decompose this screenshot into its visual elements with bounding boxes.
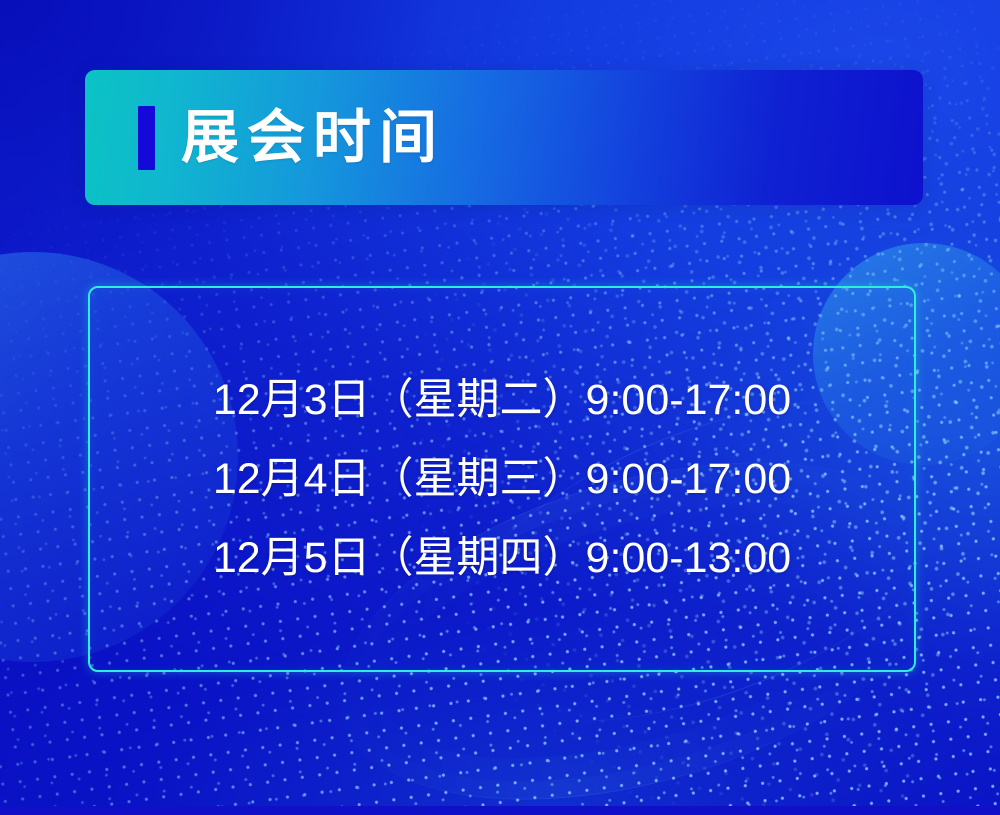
page-title: 展会时间 [181,109,445,167]
section-header-banner: 展会时间 [85,70,923,205]
header-accent-bar-icon [138,106,155,170]
schedule-row: 12月3日（星期二）9:00-17:00 [90,361,914,440]
schedule-list: 12月3日（星期二）9:00-17:00 12月4日（星期三）9:00-17:0… [90,361,914,598]
schedule-row: 12月4日（星期三）9:00-17:00 [90,440,914,519]
schedule-row: 12月5日（星期四）9:00-13:00 [90,519,914,598]
bottom-edge-strip [0,806,1000,815]
schedule-frame: 12月3日（星期二）9:00-17:00 12月4日（星期三）9:00-17:0… [88,286,916,672]
poster-canvas: 展会时间 12月3日（星期二）9:00-17:00 12月4日（星期三）9:00… [0,0,1000,815]
